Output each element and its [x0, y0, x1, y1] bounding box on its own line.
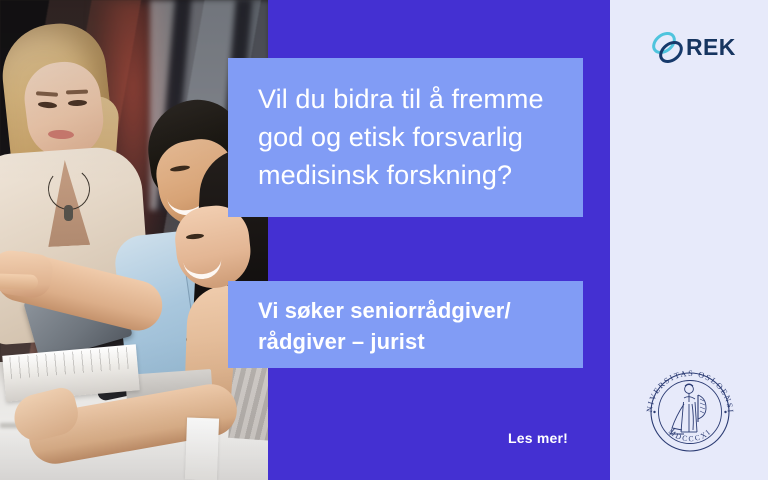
headline-text: Vil du bidra til å fremme god og etisk f… — [258, 80, 553, 194]
headline-box: Vil du bidra til å fremme god og etisk f… — [228, 58, 583, 217]
interlocking-rings-icon — [648, 26, 688, 70]
uio-seal: UNIVERSITAS OSLOENSIS MDCCCXI — [640, 362, 740, 462]
job-title-text: Vi søker seniorrådgiver/ rådgiver – juri… — [258, 295, 553, 357]
recruitment-banner: Vil du bidra til å fremme god og etisk f… — [0, 0, 768, 480]
rek-logo[interactable]: REK — [648, 26, 744, 72]
rek-wordmark: REK — [686, 34, 736, 61]
job-title-box: Vi søker seniorrådgiver/ rådgiver – juri… — [228, 281, 583, 368]
apollo-figure — [670, 384, 706, 434]
read-more-link[interactable]: Les mer! — [508, 430, 568, 446]
uio-seal-icon: UNIVERSITAS OSLOENSIS MDCCCXI — [640, 362, 740, 462]
